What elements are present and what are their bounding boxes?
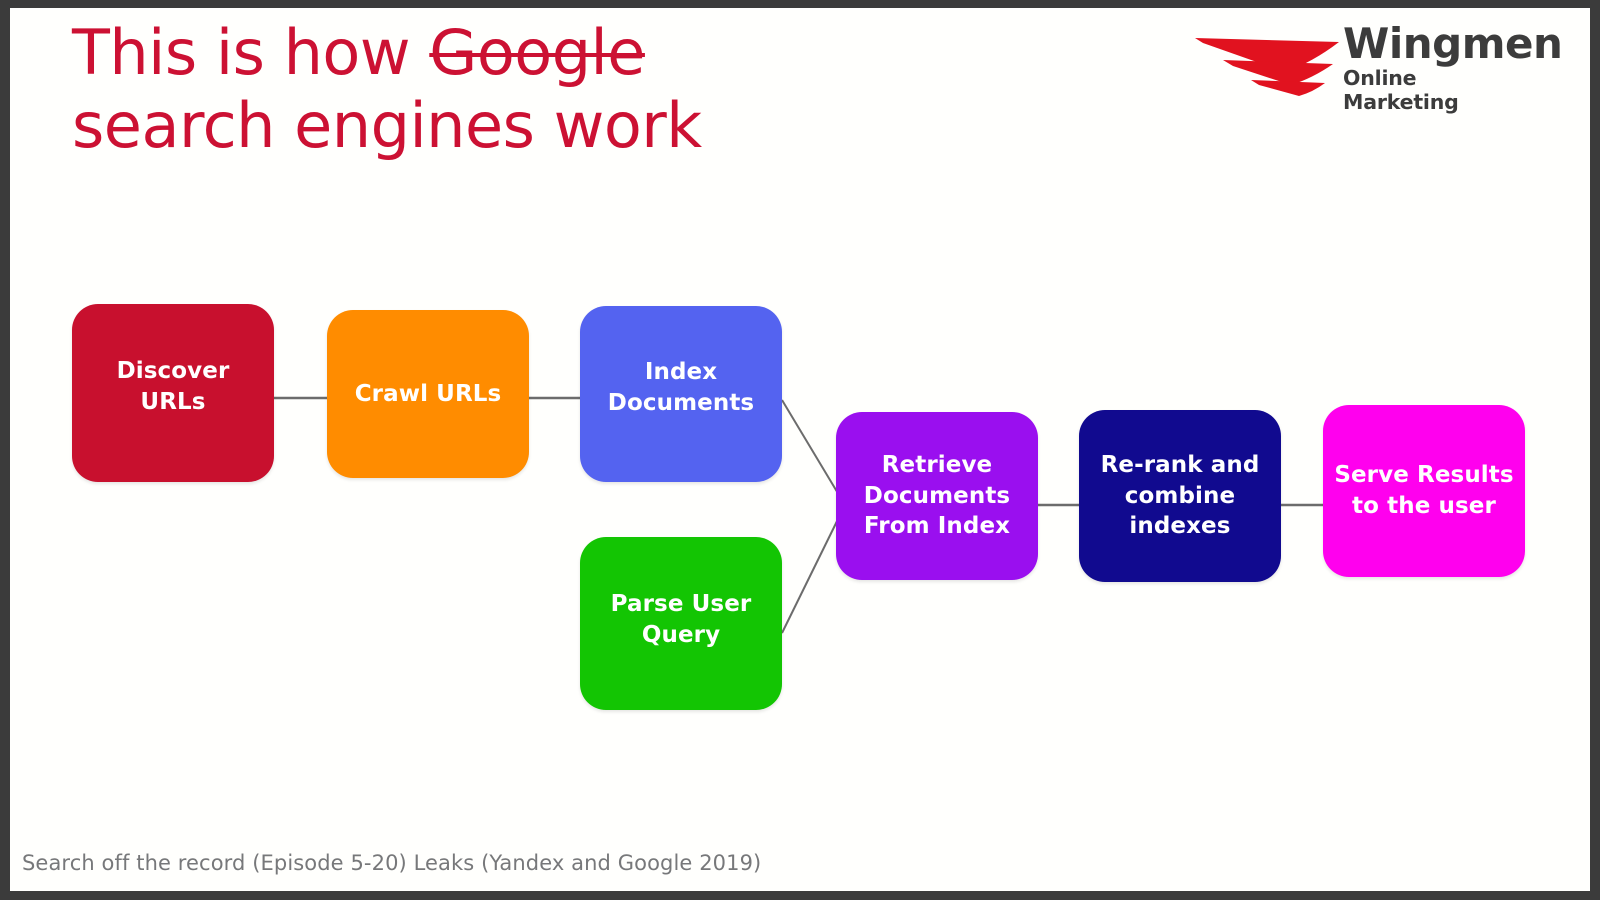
flow-node-re-rank-and-combine-indexes[interactable]: Re-rank and combine indexes	[1079, 410, 1281, 582]
flow-node-label: Discover URLs	[117, 356, 230, 417]
flow-node-index-documents[interactable]: Index Documents	[580, 306, 782, 482]
slide-frame: This is how Googlesearch engines work Wi…	[0, 0, 1600, 900]
connector-parse-user-query-to-retrieve-documents-from-index	[782, 511, 842, 633]
flow-node-discover-urls[interactable]: Discover URLs	[72, 304, 274, 482]
flow-node-retrieve-documents-from-index[interactable]: Retrieve Documents From Index	[836, 412, 1038, 580]
flow-node-label: Re-rank and combine indexes	[1101, 450, 1260, 542]
flow-node-label: Serve Results to the user	[1334, 460, 1513, 521]
slide-canvas: This is how Googlesearch engines work Wi…	[10, 8, 1590, 891]
source-caption: Search off the record (Episode 5-20) Lea…	[22, 851, 761, 875]
flow-node-label: Index Documents	[608, 357, 754, 418]
flow-node-crawl-urls[interactable]: Crawl URLs	[327, 310, 529, 478]
flow-node-parse-user-query[interactable]: Parse User Query	[580, 537, 782, 710]
flow-node-label: Retrieve Documents From Index	[864, 450, 1010, 542]
flow-node-serve-results-to-the-user[interactable]: Serve Results to the user	[1323, 405, 1525, 577]
flow-node-label: Parse User Query	[611, 589, 752, 650]
connector-index-documents-to-retrieve-documents-from-index	[782, 400, 842, 500]
flow-node-label: Crawl URLs	[355, 379, 502, 410]
search-engine-flowchart: Discover URLsCrawl URLsIndex DocumentsPa…	[10, 8, 1590, 890]
